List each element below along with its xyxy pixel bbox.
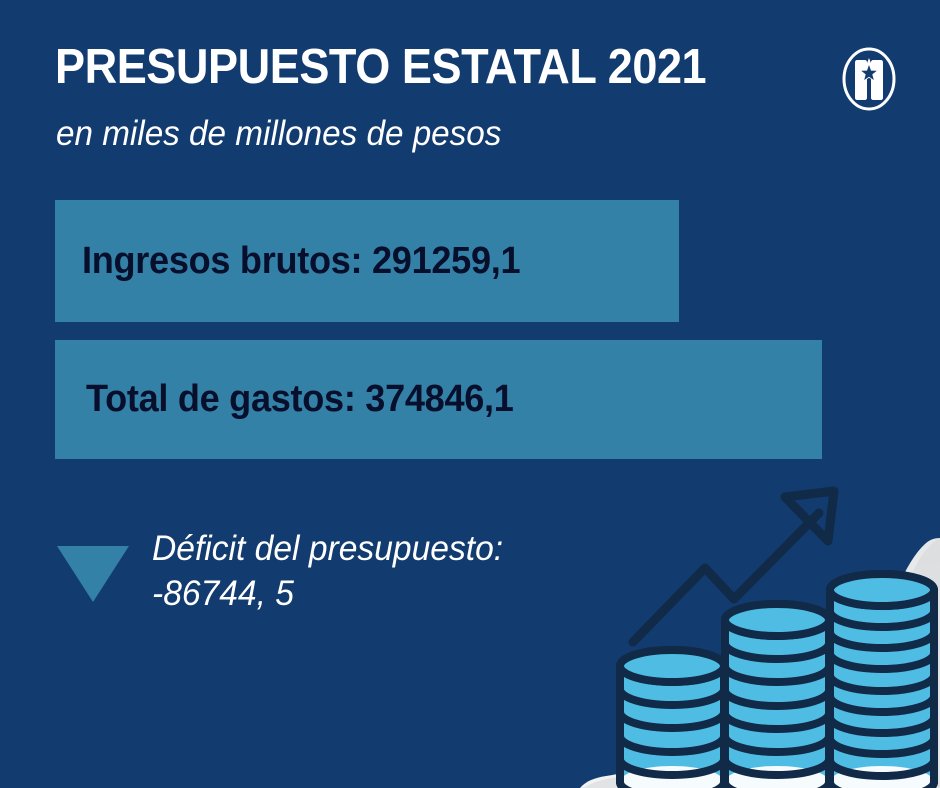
deficit-block: Déficit del presupuesto: -86744, 5 — [152, 527, 503, 617]
infographic-canvas: PRESUPUESTO ESTATAL 2021 en miles de mil… — [0, 0, 940, 788]
stat-box-total-gastos: Total de gastos: 374846,1 — [55, 340, 822, 459]
coin-stack-small — [620, 650, 724, 788]
stat-text-ingresos-brutos: Ingresos brutos: 291259,1 — [82, 240, 520, 283]
rising-trend-arrow-icon — [633, 491, 834, 642]
deficit-value: -86744, 5 — [152, 572, 503, 617]
torn-paper-corner — [580, 538, 940, 788]
coin-stack-large — [830, 574, 934, 788]
stat-text-total-gastos: Total de gastos: 374846,1 — [86, 378, 514, 421]
stat-box-ingresos-brutos: Ingresos brutos: 291259,1 — [55, 200, 679, 322]
coins-and-growth-illustration — [600, 480, 940, 788]
triangle-down-icon — [57, 546, 129, 602]
deficit-label: Déficit del presupuesto: — [152, 527, 503, 572]
coin-stack-medium — [725, 604, 829, 788]
page-subtitle: en miles de millones de pesos — [56, 115, 501, 154]
page-title: PRESUPUESTO ESTATAL 2021 — [55, 42, 706, 94]
emblem-oval-flag-star-logo — [836, 46, 902, 112]
